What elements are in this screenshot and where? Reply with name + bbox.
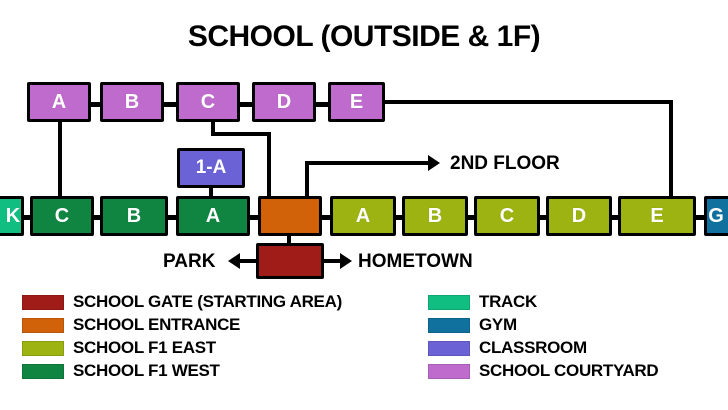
node-f1east-d[interactable]: D — [546, 196, 612, 236]
page-title: SCHOOL (OUTSIDE & 1F) — [0, 20, 728, 54]
node-school-entrance[interactable] — [258, 196, 322, 236]
node-track-clipped[interactable]: K — [0, 196, 24, 236]
legend-swatch-track — [428, 295, 470, 310]
connector-second-floor-run — [305, 161, 430, 165]
legend-swatch-gym — [428, 318, 470, 333]
legend-label: SCHOOL F1 WEST — [73, 361, 220, 381]
legend-item-track: TRACK — [428, 292, 658, 312]
node-label: B — [127, 205, 141, 228]
node-label: K — [6, 205, 20, 228]
legend-column-right: TRACK GYM CLASSROOM SCHOOL COURTYARD — [428, 292, 658, 384]
legend-item-school-courtyard: SCHOOL COURTYARD — [428, 361, 658, 381]
node-label: A — [206, 205, 220, 228]
connector-courtyard-e-to-f1east-e — [669, 100, 673, 202]
node-label: C — [201, 91, 215, 114]
connector-courtyard-c-jog — [211, 132, 271, 136]
stub-courtyard-c-d — [240, 102, 252, 107]
node-label: 1-A — [196, 157, 227, 179]
node-classroom-1a[interactable]: 1-A — [177, 148, 245, 188]
stub-courtyard-b-c — [164, 102, 176, 107]
node-label: E — [650, 205, 663, 228]
node-f1west-a[interactable]: A — [176, 196, 250, 236]
node-label: B — [125, 91, 139, 114]
legend-label: CLASSROOM — [479, 338, 587, 358]
legend-label: SCHOOL F1 EAST — [73, 338, 216, 358]
legend-label: TRACK — [479, 292, 537, 312]
node-label: E — [350, 91, 363, 114]
legend-item-school-f1-west: SCHOOL F1 WEST — [22, 361, 342, 381]
legend-item-school-f1-east: SCHOOL F1 EAST — [22, 338, 342, 358]
node-label: B — [428, 205, 442, 228]
hometown-arrowhead — [340, 253, 352, 269]
node-f1east-b[interactable]: B — [402, 196, 468, 236]
legend-swatch-school-f1-west — [22, 364, 64, 379]
node-f1west-b[interactable]: B — [100, 196, 168, 236]
node-courtyard-b[interactable]: B — [100, 82, 164, 122]
legend-item-classroom: CLASSROOM — [428, 338, 658, 358]
legend-item-school-entrance: SCHOOL ENTRANCE — [22, 315, 342, 335]
node-label: D — [572, 205, 586, 228]
node-f1east-a[interactable]: A — [330, 196, 396, 236]
hometown-label: HOMETOWN — [358, 251, 473, 273]
legend-label: SCHOOL ENTRANCE — [73, 315, 240, 335]
node-f1east-e[interactable]: E — [618, 196, 696, 236]
legend-label: SCHOOL COURTYARD — [479, 361, 658, 381]
stub-courtyard-d-e — [316, 102, 328, 107]
node-courtyard-a[interactable]: A — [27, 82, 91, 122]
node-courtyard-d[interactable]: D — [252, 82, 316, 122]
node-gym-clipped[interactable]: G — [704, 196, 728, 236]
park-arrowhead — [228, 253, 240, 269]
legend-swatch-classroom — [428, 341, 470, 356]
legend-swatch-school-f1-east — [22, 341, 64, 356]
node-label: D — [277, 91, 291, 114]
node-courtyard-c[interactable]: C — [176, 82, 240, 122]
node-f1west-c[interactable]: C — [30, 196, 94, 236]
node-label: A — [356, 205, 370, 228]
legend-label: SCHOOL GATE (STARTING AREA) — [73, 292, 342, 312]
node-label: C — [500, 205, 514, 228]
node-school-gate[interactable] — [256, 243, 324, 279]
connector-courtyard-e-run — [385, 100, 673, 104]
legend-swatch-school-entrance — [22, 318, 64, 333]
legend: SCHOOL GATE (STARTING AREA) SCHOOL ENTRA… — [0, 292, 728, 392]
legend-item-gym: GYM — [428, 315, 658, 335]
legend-swatch-school-courtyard — [428, 364, 470, 379]
second-floor-arrowhead — [428, 155, 440, 171]
legend-swatch-school-gate — [22, 295, 64, 310]
park-label: PARK — [163, 251, 215, 273]
legend-item-school-gate: SCHOOL GATE (STARTING AREA) — [22, 292, 342, 312]
second-floor-label: 2ND FLOOR — [450, 153, 560, 175]
node-label: A — [52, 91, 66, 114]
node-courtyard-e[interactable]: E — [328, 82, 385, 122]
node-f1east-c[interactable]: C — [474, 196, 540, 236]
node-label: C — [55, 205, 69, 228]
connector-courtyard-c-to-entrance — [267, 132, 271, 202]
node-label: G — [708, 205, 724, 228]
legend-label: GYM — [479, 315, 517, 335]
connector-courtyard-a-to-f1west-c — [58, 118, 62, 201]
legend-column-left: SCHOOL GATE (STARTING AREA) SCHOOL ENTRA… — [22, 292, 342, 384]
school-map-diagram: SCHOOL (OUTSIDE & 1F) 2ND FLOOR PARK HOM… — [0, 0, 728, 410]
